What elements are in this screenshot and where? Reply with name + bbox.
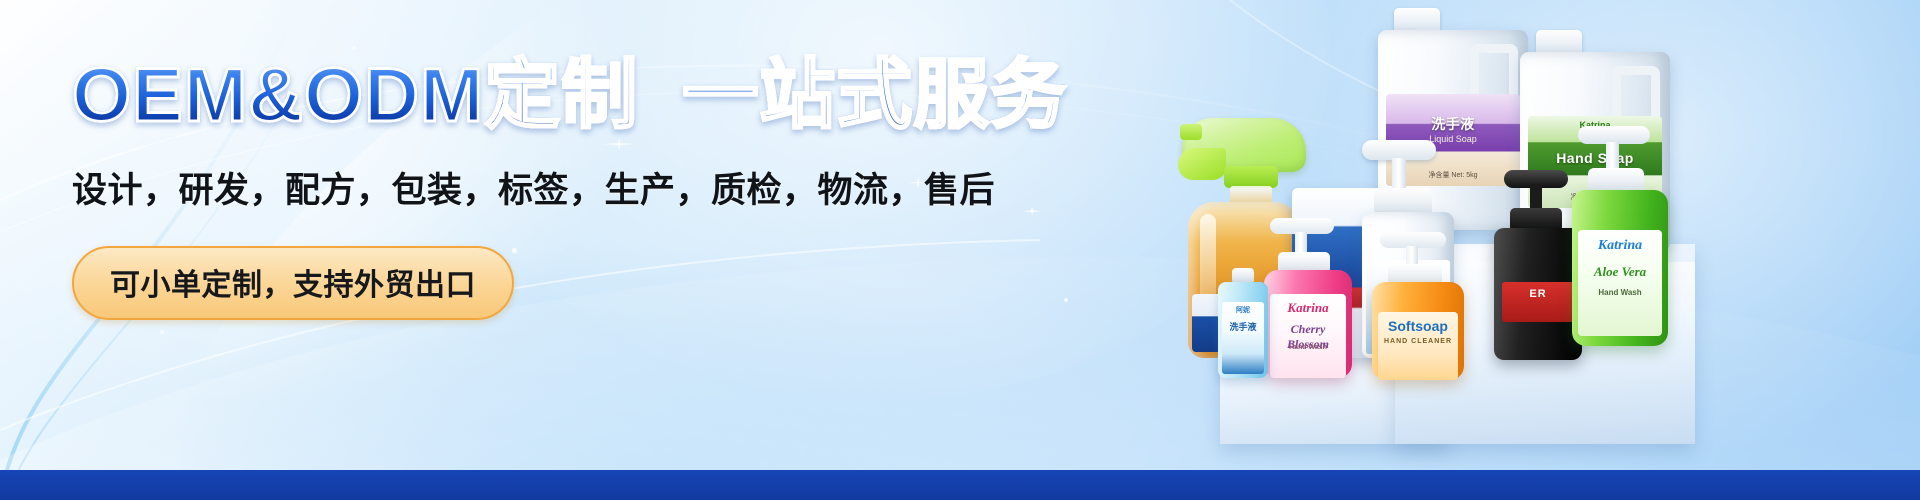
jug-label-title: 洗手液 [1386,114,1520,134]
sanitizer-label-text: 洗手液 [1222,320,1264,333]
spray-collar [1224,166,1278,188]
black-bottle-label: ER [1502,282,1574,322]
pink-bottle-label: Katrina Cherry Blossom Hand Wash [1270,294,1346,378]
headline-primary: OEM&ODM定制 [72,53,638,138]
page-title: OEM&ODM定制一站式服务 [72,58,1072,134]
promo-banner: OEM&ODM定制一站式服务 设计，研发，配方，包装，标签，生产，质检，物流，售… [0,0,1920,500]
service-list-subtitle: 设计，研发，配方，包装，标签，生产，质检，物流，售后 [72,162,1072,213]
pump-head [1362,140,1436,160]
pump-stem [1392,158,1406,192]
orange-label-sub: HAND CLEANER [1378,338,1458,345]
pink-label-sub: Hand Wash [1270,344,1346,351]
headline-secondary: 一站式服务 [682,53,1067,138]
sanitizer-label-brand: 阿妮 [1222,305,1264,315]
spray-trigger-lever [1178,148,1226,180]
green-label-variant: Aloe Vera [1578,264,1662,280]
product-photo-group: 洗手液 Liquid Soap 净含量 Net: 5kg Katrina Han… [1160,0,1920,470]
spray-nozzle [1180,124,1202,140]
cherry-blossom-hand-wash: Katrina Cherry Blossom Hand Wash [1262,218,1354,378]
black-label-text: ER [1502,288,1574,300]
aloe-vera-hand-wash: Katrina Aloe Vera Hand Wash [1568,126,1672,346]
pink-label-brand: Katrina [1270,300,1346,316]
green-label-sub: Hand Wash [1578,288,1662,297]
blue-hand-sanitizer: 阿妮 洗手液 [1218,268,1268,378]
bottom-accent-bar [0,470,1920,500]
softsoap-hand-cleaner: Softsoap HAND CLEANER [1370,232,1466,380]
banner-copy-block: OEM&ODM定制一站式服务 设计，研发，配方，包装，标签，生产，质检，物流，售… [72,58,1072,320]
orange-label-brand: Softsoap [1378,318,1458,334]
green-label-brand: Katrina [1578,238,1662,254]
status-badge[interactable]: 可小单定制，支持外贸出口 [72,246,514,320]
sanitizer-label: 阿妮 洗手液 [1222,302,1264,374]
green-bottle-label: Katrina Aloe Vera Hand Wash [1578,230,1662,336]
orange-bottle-label: Softsoap HAND CLEANER [1378,312,1458,380]
